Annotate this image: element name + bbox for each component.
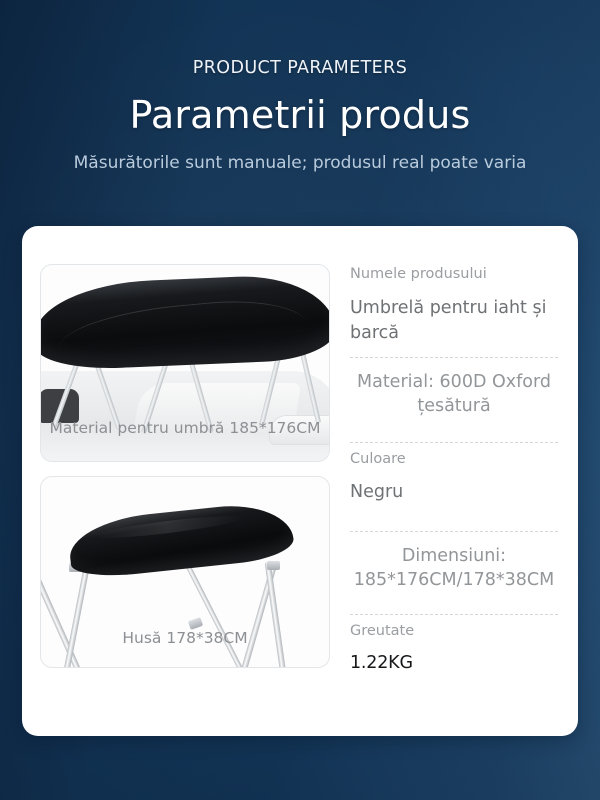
support-pole [265, 561, 288, 668]
spec-row-dimensions: Dimensiuni: 185*176CM/178*38CM [350, 532, 558, 604]
spec-row-color: Culoare Negru [350, 443, 558, 521]
product-media-column: Material pentru umbră 185*176CM Husă 178… [40, 240, 330, 722]
black-canopy-shape [40, 273, 330, 371]
page-header: PRODUCT PARAMETERS Parametrii produs Măs… [0, 0, 600, 175]
canopy-fold-line [56, 293, 309, 362]
product-image-bimini-top[interactable]: Material pentru umbră 185*176CM [40, 264, 330, 462]
product-image-folded-cover[interactable]: Husă 178*38CM [40, 476, 330, 668]
spec-row-weight: Greutate 1.22KG [350, 615, 558, 677]
pole-clip [267, 561, 280, 570]
page-title: Parametrii produs [0, 95, 600, 135]
header-kicker: PRODUCT PARAMETERS [0, 58, 600, 78]
boat-seat-shape [269, 415, 330, 445]
folded-cover-illustration [41, 477, 329, 667]
spec-row-product-name: Numele produsului Umbrelă pentru iaht și… [350, 262, 558, 347]
spec-row-material: Material: 600D Oxford țesătură [350, 358, 558, 432]
spec-value-dimensions: Dimensiuni: 185*176CM/178*38CM [350, 532, 558, 592]
black-storage-bag-shape [67, 499, 296, 580]
spec-label-color: Culoare [350, 449, 558, 471]
spec-value-weight: 1.22KG [350, 651, 558, 676]
product-parameters-card: Material pentru umbră 185*176CM Husă 178… [22, 226, 578, 736]
spec-value-color: Negru [350, 480, 558, 505]
spec-label-weight: Greutate [350, 621, 558, 643]
support-pole [62, 564, 90, 668]
pole-clip [188, 617, 203, 630]
bimini-top-illustration [41, 265, 329, 461]
support-pole [180, 553, 243, 668]
specification-list: Numele produsului Umbrelă pentru iaht și… [330, 240, 562, 722]
header-subtitle: Măsurătorile sunt manuale; produsul real… [0, 151, 600, 175]
spec-label-product-name: Numele produsului [350, 264, 558, 286]
spec-value-product-name: Umbrelă pentru iaht și barcă [350, 296, 558, 347]
spec-value-material: Material: 600D Oxford țesătură [350, 358, 558, 418]
